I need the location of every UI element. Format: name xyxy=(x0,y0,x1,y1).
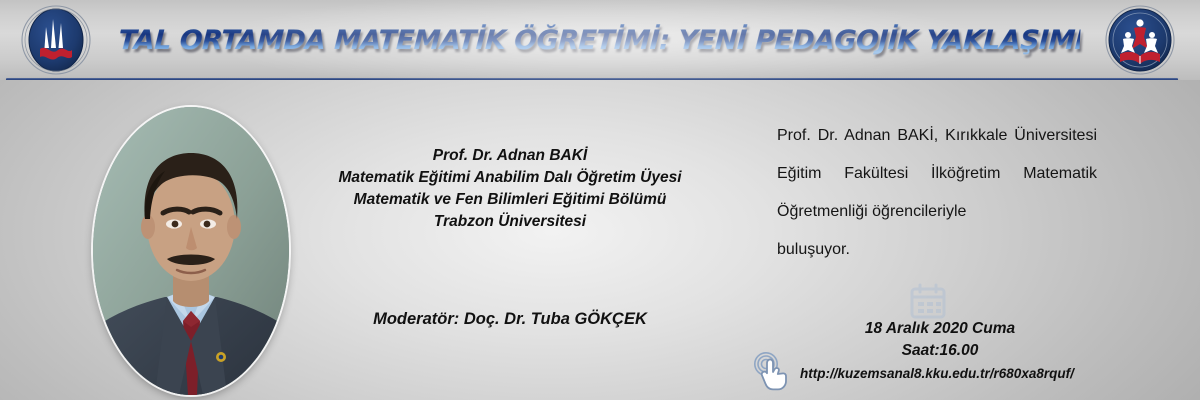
hand-click-cursor-icon xyxy=(752,352,796,394)
speaker-role: Matematik Eğitimi Anabilim Dalı Öğretim … xyxy=(300,167,720,189)
speaker-university: Trabzon Üniversitesi xyxy=(300,211,720,233)
event-time: Saat:16.00 xyxy=(790,340,1090,362)
event-date: 18 Aralık 2020 Cuma xyxy=(790,318,1090,340)
speaker-portrait xyxy=(93,107,289,395)
page-title: DİJİTAL ORTAMDA MATEMATİK ÖĞRETİMİ: YENİ… xyxy=(119,12,1082,68)
speaker-info-block: Prof. Dr. Adnan BAKİ Matematik Eğitimi A… xyxy=(300,145,720,233)
moderator-line: Moderatör: Doç. Dr. Tuba GÖKÇEK xyxy=(300,310,720,329)
event-datetime: 18 Aralık 2020 Cuma Saat:16.00 xyxy=(790,318,1090,362)
event-description-paragraph: Prof. Dr. Adnan BAKİ, Kırıkkale Üniversi… xyxy=(777,117,1097,231)
poster-header: DİJİTAL ORTAMDA MATEMATİK ÖĞRETİMİ: YENİ… xyxy=(0,0,1200,80)
seminar-poster: DİJİTAL ORTAMDA MATEMATİK ÖĞRETİMİ: YENİ… xyxy=(0,0,1200,400)
calendar-icon xyxy=(908,281,948,321)
event-description: Prof. Dr. Adnan BAKİ, Kırıkkale Üniversi… xyxy=(777,117,1097,269)
header-divider xyxy=(6,78,1178,80)
kirikkale-universitesi-egitim-fakultesi-logo xyxy=(1104,4,1176,76)
speaker-name: Prof. Dr. Adnan BAKİ xyxy=(300,145,720,167)
speaker-department: Matematik ve Fen Bilimleri Eğitimi Bölüm… xyxy=(300,189,720,211)
event-description-closing: buluşuyor. xyxy=(777,231,1097,269)
event-url[interactable]: http://kuzemsanal8.kku.edu.tr/r680xa8rqu… xyxy=(800,366,1100,381)
